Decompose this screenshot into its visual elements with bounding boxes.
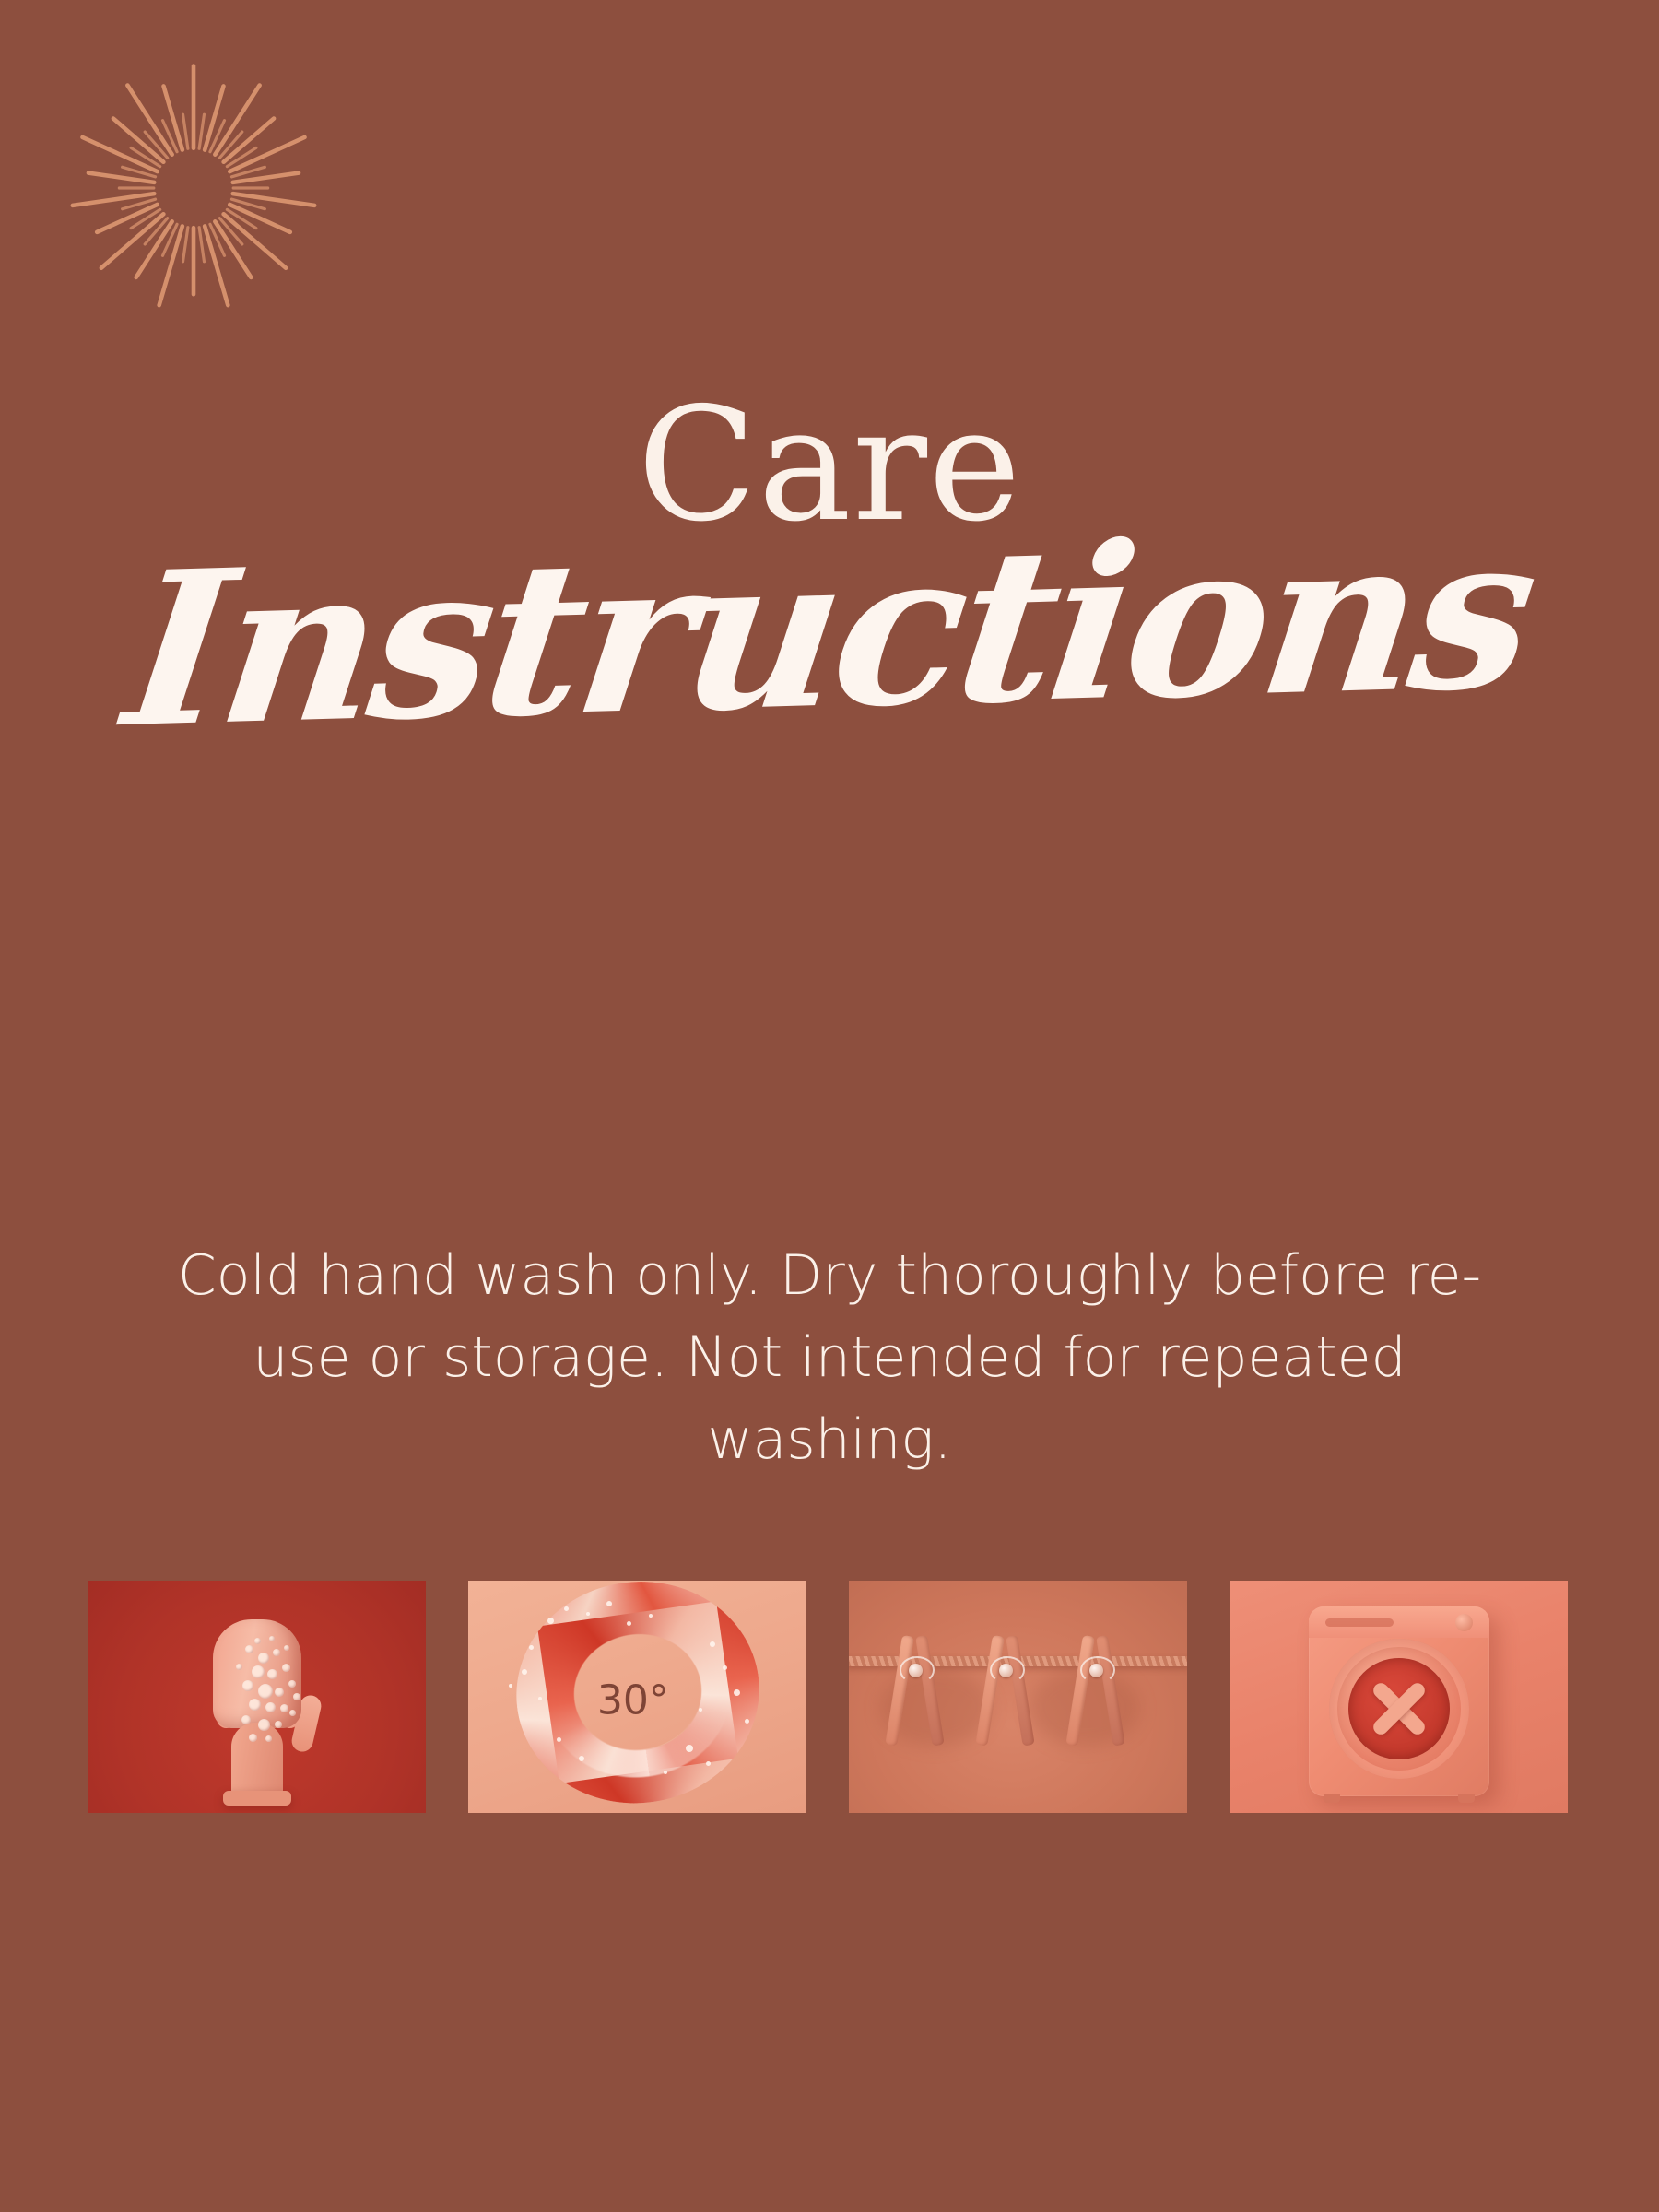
hand-illustration: [170, 1581, 345, 1813]
poster-canvas: Care Instructions Cold hand wash only. D…: [0, 0, 1659, 2212]
program-knob: [1455, 1614, 1473, 1631]
control-panel: [1309, 1606, 1489, 1638]
machine-foot: [1324, 1794, 1340, 1803]
water-droplet: [522, 1669, 527, 1675]
foam-bubble: [265, 1735, 272, 1742]
foam-bubble: [265, 1702, 276, 1712]
foam-bubble: [275, 1688, 284, 1697]
sunburst-logo: [61, 55, 326, 321]
foam-bubble: [269, 1636, 275, 1641]
water-droplet: [509, 1684, 512, 1688]
water-droplet: [538, 1697, 542, 1700]
water-droplet: [529, 1645, 534, 1650]
water-droplet: [710, 1641, 715, 1647]
foam-bubble: [249, 1699, 261, 1711]
foam-bubble: [252, 1665, 265, 1678]
foam-bubble: [236, 1664, 242, 1670]
foam-bubble: [282, 1664, 290, 1672]
machine-door: [1329, 1639, 1469, 1779]
water-temperature-photo: 30°: [468, 1581, 806, 1813]
foam-bubble: [275, 1721, 282, 1728]
water-droplet: [547, 1618, 554, 1624]
water-droplet: [745, 1719, 749, 1724]
foam-bubble: [289, 1710, 296, 1716]
foam-bubble: [288, 1680, 296, 1688]
water-droplet: [606, 1601, 612, 1606]
wrist-shape: [231, 1723, 283, 1800]
foam-bubble: [267, 1669, 277, 1679]
machine-foot: [1458, 1794, 1475, 1803]
foam-bubble: [249, 1734, 257, 1742]
washing-machine-icon: [1309, 1606, 1489, 1796]
detergent-drawer: [1325, 1618, 1394, 1627]
no-machine-wash-photo: [1230, 1581, 1568, 1813]
water-droplet: [664, 1771, 667, 1774]
title-line-two: Instructions: [0, 508, 1659, 756]
water-droplet: [699, 1708, 702, 1712]
foam-bubble: [258, 1684, 273, 1699]
care-instructions-text: Cold hand wash only. Dry thoroughly befo…: [171, 1235, 1488, 1480]
foam-bubble: [245, 1645, 253, 1653]
water-droplet: [586, 1612, 590, 1616]
foam-bubble: [293, 1693, 300, 1700]
temperature-label: 30°: [597, 1677, 669, 1724]
care-image-gallery: 30°: [88, 1581, 1581, 1813]
water-droplet: [686, 1745, 693, 1752]
foam-bubble: [254, 1638, 261, 1644]
clothespin-icon: [1077, 1636, 1114, 1747]
page-title: Care Instructions: [0, 387, 1659, 733]
foam-bubble: [241, 1715, 251, 1724]
water-droplet: [579, 1756, 584, 1761]
foam-bubble: [258, 1653, 269, 1664]
water-droplet: [627, 1621, 631, 1626]
clothespin-icon: [897, 1636, 934, 1747]
foam-bubble: [273, 1649, 280, 1656]
close-icon: [1363, 1673, 1435, 1745]
water-droplet: [557, 1737, 561, 1742]
water-droplet: [564, 1606, 569, 1611]
foam-bubble: [258, 1719, 270, 1731]
water-droplet: [649, 1614, 653, 1618]
water-droplet: [706, 1761, 711, 1766]
water-droplet: [723, 1665, 727, 1670]
foam-bubble: [284, 1645, 289, 1651]
stand-base: [223, 1791, 291, 1806]
foam-bubble: [280, 1704, 288, 1712]
foam-bubble: [242, 1680, 253, 1691]
line-dry-photo: [849, 1581, 1187, 1813]
hand-wash-photo: [88, 1581, 426, 1813]
water-droplet: [734, 1689, 740, 1696]
clothespin-icon: [987, 1636, 1024, 1747]
